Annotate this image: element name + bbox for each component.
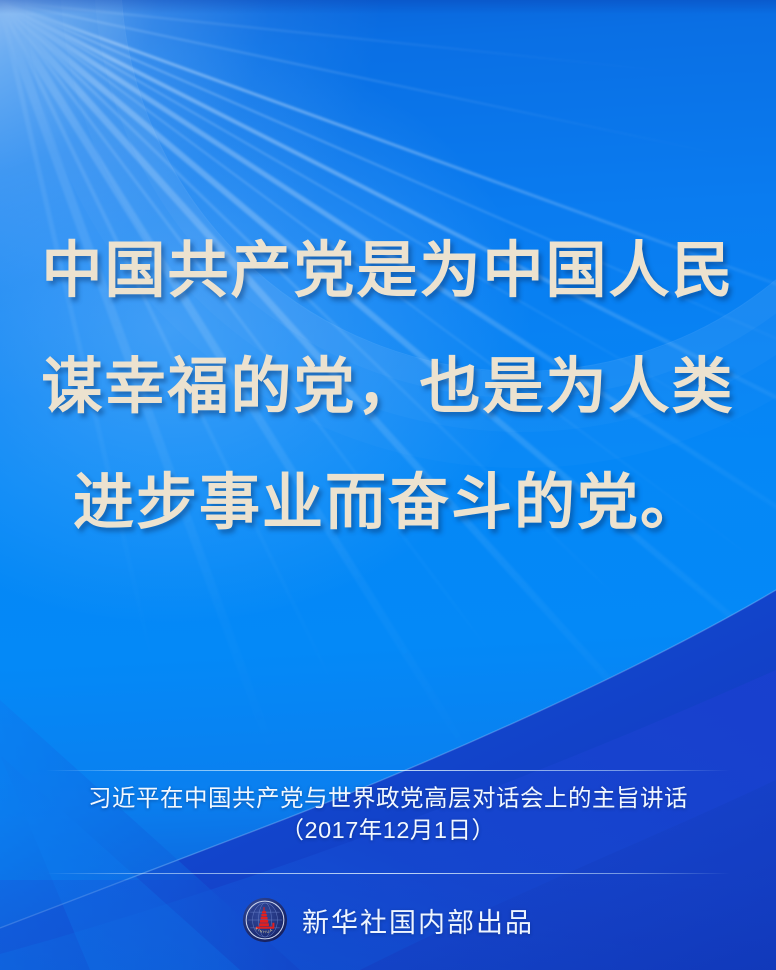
divider-top: [46, 770, 730, 771]
poster-root: 中国共产党是为中国人民 谋幸福的党，也是为人类 进步事业而奋斗的党。 习近平在中…: [0, 0, 776, 970]
xinhua-logo-icon: XINHUA: [242, 897, 288, 943]
quote-line-3: 进步事业而奋斗的党。: [0, 446, 776, 562]
divider-bottom: [46, 873, 730, 874]
footer-label: 新华社国内部出品: [302, 901, 534, 940]
quote-line-1: 中国共产党是为中国人民: [0, 214, 776, 330]
background-top-edge: [0, 0, 776, 14]
quote-block: 中国共产党是为中国人民 谋幸福的党，也是为人类 进步事业而奋斗的党。: [0, 214, 776, 562]
attribution-date: （2017年12月1日）: [0, 814, 776, 847]
attribution-source: 习近平在中国共产党与世界政党高层对话会上的主旨讲话: [0, 782, 776, 814]
footer-block: XINHUA 新华社国内部出品: [0, 897, 776, 943]
attribution-block: 习近平在中国共产党与世界政党高层对话会上的主旨讲话 （2017年12月1日）: [0, 782, 776, 847]
quote-line-2: 谋幸福的党，也是为人类: [0, 330, 776, 446]
